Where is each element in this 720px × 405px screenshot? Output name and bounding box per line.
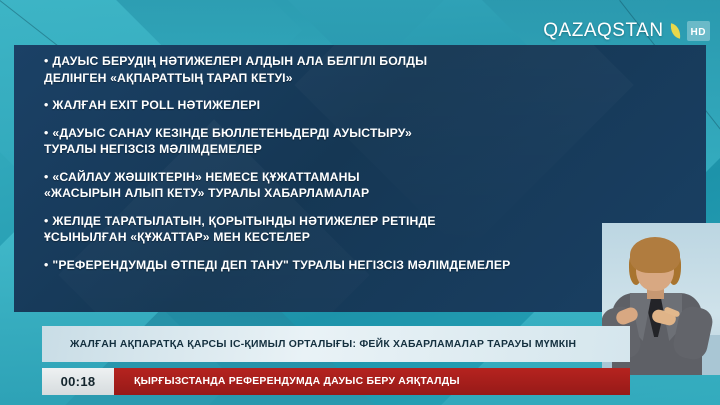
bullet-marker: • — [44, 53, 48, 70]
bullet-line: ҰСЫНЫЛҒАН «ҚҰЖАТТАР» МЕН КЕСТЕЛЕР — [44, 229, 698, 246]
bullet-marker: • — [44, 257, 48, 274]
list-item: •«САЙЛАУ ЖӘШІКТЕРІН» НЕМЕСЕ ҚҰЖАТТАМАНЫ … — [44, 169, 698, 202]
bullet-marker: • — [44, 169, 48, 186]
lower-third-headline-bar: ЖАЛҒАН АҚПАРАТҚА ҚАРСЫ ІС-ҚИМЫЛ ОРТАЛЫҒЫ… — [42, 326, 630, 362]
bullet-line: "РЕФЕРЕНДУМДЫ ӨТПЕДІ ДЕП ТАНУ" ТУРАЛЫ НЕ… — [52, 258, 510, 272]
bullet-marker: • — [44, 213, 48, 230]
bullet-list: •ДАУЫС БЕРУДІҢ НӘТИЖЕЛЕРІ АЛДЫН АЛА БЕЛГ… — [44, 53, 698, 284]
list-item: •ДАУЫС БЕРУДІҢ НӘТИЖЕЛЕРІ АЛДЫН АЛА БЕЛГ… — [44, 53, 698, 86]
broadcast-screen: QAZAQSTAN HD •ДАУЫС БЕРУДІҢ НӘТИЖЕЛЕРІ А… — [0, 0, 720, 405]
bullet-line: «ДАУЫС САНАУ КЕЗІНДЕ БЮЛЛЕТЕНЬДЕРДІ АУЫС… — [52, 126, 412, 140]
bullet-marker: • — [44, 97, 48, 114]
list-item: •«ДАУЫС САНАУ КЕЗІНДЕ БЮЛЛЕТЕНЬДЕРДІ АУЫ… — [44, 125, 698, 158]
ticker-text: ҚЫРҒЫЗСТАНДА РЕФЕРЕНДУМДА ДАУЫС БЕРУ АЯҚ… — [114, 376, 460, 387]
list-item: •ЖЕЛІДЕ ТАРАТЫЛАТЫН, ҚОРЫТЫНДЫ НӘТИЖЕЛЕР… — [44, 213, 698, 246]
hd-badge: HD — [687, 21, 710, 41]
news-ticker: 00:18 ҚЫРҒЫЗСТАНДА РЕФЕРЕНДУМДА ДАУЫС БЕ… — [42, 368, 630, 395]
bullet-line: ЖЕЛІДЕ ТАРАТЫЛАТЫН, ҚОРЫТЫНДЫ НӘТИЖЕЛЕР … — [52, 214, 435, 228]
interpreter-hair — [630, 237, 680, 273]
list-item: •ЖАЛҒАН EXIT POLL НӘТИЖЕЛЕРІ — [44, 97, 698, 114]
list-item: •"РЕФЕРЕНДУМДЫ ӨТПЕДІ ДЕП ТАНУ" ТУРАЛЫ Н… — [44, 257, 698, 274]
hd-badge-label: HD — [691, 27, 706, 38]
bullet-line: «ЖАСЫРЫН АЛЫП КЕТУ» ТУРАЛЫ ХАБАРЛАМАЛАР — [44, 185, 698, 202]
bullet-line: ТУРАЛЫ НЕГІЗСІЗ МӘЛІМДЕМЕЛЕР — [44, 141, 698, 158]
channel-logo-text: QAZAQSTAN — [543, 20, 663, 42]
bullet-line: ДАУЫС БЕРУДІҢ НӘТИЖЕЛЕРІ АЛДЫН АЛА БЕЛГІ… — [52, 54, 427, 68]
bullet-line: ДЕЛІНГЕН «АҚПАРАТТЫҢ ТАРАП КЕТУІ» — [44, 70, 698, 87]
ticker-timer-value: 00:18 — [61, 374, 96, 389]
headline-text: ЖАЛҒАН АҚПАРАТҚА ҚАРСЫ ІС-ҚИМЫЛ ОРТАЛЫҒЫ… — [42, 339, 576, 350]
leaf-icon — [669, 23, 682, 38]
bullet-line: ЖАЛҒАН EXIT POLL НӘТИЖЕЛЕРІ — [52, 98, 260, 112]
bullet-line: «САЙЛАУ ЖӘШІКТЕРІН» НЕМЕСЕ ҚҰЖАТТАМАНЫ — [52, 170, 359, 184]
channel-logo: QAZAQSTAN HD — [543, 20, 710, 42]
bullet-marker: • — [44, 125, 48, 142]
ticker-bar: ҚЫРҒЫЗСТАНДА РЕФЕРЕНДУМДА ДАУЫС БЕРУ АЯҚ… — [114, 368, 630, 395]
ticker-timer: 00:18 — [42, 368, 114, 395]
